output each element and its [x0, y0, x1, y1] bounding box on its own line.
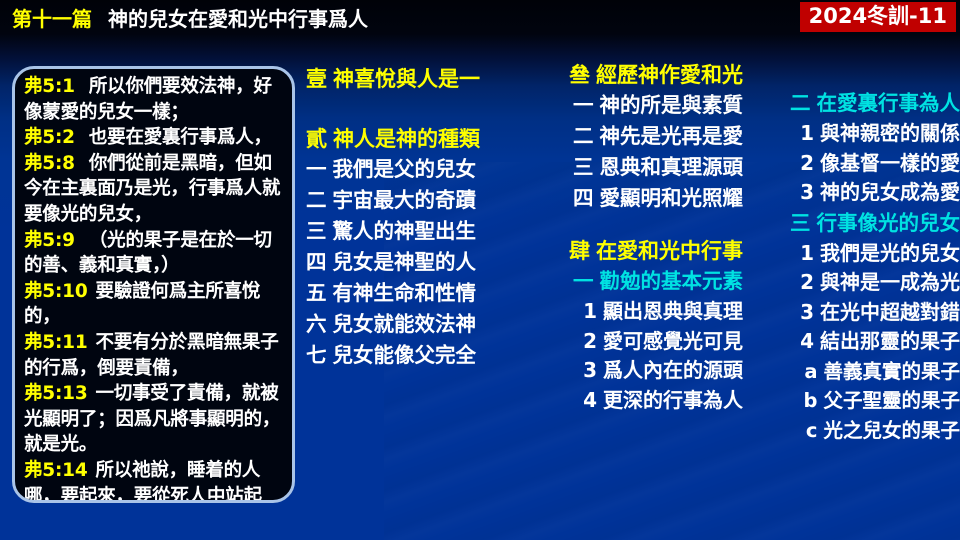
outline-label: 兒女就能效法神 — [333, 312, 477, 336]
outline-marker: 五 — [306, 281, 327, 305]
verse-paragraph: 弗5:11不要有分於黑暗無果子的行爲，倒要責備， — [24, 330, 285, 381]
outline-label: 在愛和光中行事 — [596, 239, 743, 263]
outline-marker: 貳 — [306, 127, 327, 151]
outline-item-l2: 2愛可感覺光可見 — [521, 327, 743, 357]
outline-item-l1: 一勸勉的基本元素 — [521, 266, 743, 297]
outline-label: 神喜悅與人是一 — [333, 67, 480, 91]
outline-label: 經歷神作愛和光 — [596, 63, 743, 87]
verse-paragraph: 弗5:13一切事受了責備，就被光顯明了；因爲凡將事顯明的，就是光。 — [24, 381, 285, 458]
outline-label: 在光中超越對錯 — [820, 300, 960, 324]
outline-column-c: 二在愛裏行事為人1與神親密的關係2像基督一樣的愛3神的兒女成為愛三行事像光的兒女… — [743, 88, 960, 445]
outline-marker: b — [804, 389, 818, 412]
verse-list: 弗5:1所以你們要效法神，好像蒙愛的兒女一樣；弗5:2也要在愛裏行事爲人，弗5:… — [24, 74, 285, 503]
verse-reference: 弗5:1 — [24, 76, 75, 97]
outline-marker: 3 — [800, 300, 814, 324]
verse-reference: 弗5:11 — [24, 332, 88, 353]
outline-spacer — [521, 214, 743, 236]
outline-item-l2: 4結出那靈的果子 — [743, 327, 960, 357]
outline-marker: 2 — [583, 329, 597, 353]
outline-label: 結出那靈的果子 — [820, 329, 960, 353]
verse-paragraph: 弗5:2也要在愛裏行事爲人， — [24, 125, 285, 151]
verse-paragraph: 弗5:14所以祂說，睡着的人哪，要起來，要從死人中站起來，基督就要光照你了。 — [24, 458, 285, 503]
outline-item-l1: 三行事像光的兒女 — [743, 208, 960, 239]
outline-marker: 三 — [790, 211, 811, 235]
outline-marker: 4 — [800, 329, 814, 353]
outline-item-l1: 四兒女是神聖的人 — [306, 247, 521, 278]
outline-marker: 三 — [306, 219, 327, 243]
outline-item-l2: 1顯出恩典與真理 — [521, 297, 743, 327]
scripture-panel: 弗5:1所以你們要效法神，好像蒙愛的兒女一樣；弗5:2也要在愛裏行事爲人，弗5:… — [12, 66, 295, 503]
verse-reference: 弗5:10 — [24, 281, 88, 302]
outline-label: 神人是神的種類 — [333, 127, 480, 151]
outline-label: 與神親密的關係 — [820, 121, 960, 145]
outline-column-a: 壹神喜悅與人是一貳神人是神的種類一我們是父的兒女二宇宙最大的奇蹟三驚人的神聖出生… — [306, 64, 521, 371]
outline-label: 宇宙最大的奇蹟 — [333, 188, 477, 212]
outline-item-l3: a善義真實的果子 — [743, 357, 960, 387]
outline-item-l1: 一神的所是與素質 — [521, 90, 743, 121]
verse-reference: 弗5:2 — [24, 127, 75, 148]
outline-item-l2: 3爲人內在的源頭 — [521, 356, 743, 386]
outline-item-l1: 四愛顯明和光照耀 — [521, 183, 743, 214]
outline-item-l0: 貳神人是神的種類 — [306, 124, 521, 154]
outline-item-l2: 2像基督一樣的愛 — [743, 149, 960, 179]
outline-label: 勸勉的基本元素 — [600, 269, 744, 293]
outline-item-l1: 二在愛裏行事為人 — [743, 88, 960, 119]
verse-paragraph: 弗5:1所以你們要效法神，好像蒙愛的兒女一樣； — [24, 74, 285, 125]
verse-reference: 弗5:14 — [24, 460, 88, 481]
outline-item-l1: 七兒女能像父完全 — [306, 340, 521, 371]
outline-item-l1: 二神先是光再是愛 — [521, 121, 743, 152]
verse-reference: 弗5:9 — [24, 230, 75, 251]
outline-label: 在愛裏行事為人 — [817, 91, 960, 115]
outline-marker: 二 — [790, 91, 811, 115]
outline-marker: 二 — [573, 124, 594, 148]
outline-item-l2: 4更深的行事為人 — [521, 386, 743, 416]
outline-item-l2: 3在光中超越對錯 — [743, 298, 960, 328]
verse-paragraph: 弗5:8你們從前是黑暗，但如今在主裏面乃是光，行事爲人就要像光的兒女， — [24, 151, 285, 228]
outline-label: 父子聖靈的果子 — [823, 389, 960, 412]
outline-item-l2: 2與神是一成為光 — [743, 268, 960, 298]
outline-label: 兒女能像父完全 — [333, 343, 477, 367]
outline-marker: 七 — [306, 343, 327, 367]
outline-marker: c — [806, 419, 818, 442]
outline-marker: 壹 — [306, 67, 327, 91]
outline-item-l0: 叄經歷神作愛和光 — [521, 60, 743, 90]
page-title: 神的兒女在愛和光中行事爲人 — [108, 3, 368, 32]
outline-marker: 4 — [583, 388, 597, 412]
outline-label: 有神生命和性情 — [333, 281, 477, 305]
outline-item-l1: 二宇宙最大的奇蹟 — [306, 185, 521, 216]
outline-label: 神的兒女成為愛 — [820, 180, 960, 204]
outline-marker: 2 — [800, 151, 814, 175]
outline-label: 顯出恩典與真理 — [603, 299, 743, 323]
outline-item-l3: c光之兒女的果子 — [743, 416, 960, 446]
status-badge: 2024冬訓-11 — [800, 2, 956, 32]
verse-paragraph: 弗5:10要驗證何爲主所喜悅的， — [24, 279, 285, 330]
outline-item-l2: 1與神親密的關係 — [743, 119, 960, 149]
outline-marker: 六 — [306, 312, 327, 336]
outline-column-b: 叄經歷神作愛和光一神的所是與素質二神先是光再是愛三恩典和真理源頭四愛顯明和光照耀… — [521, 60, 743, 415]
outline-marker: 1 — [583, 299, 597, 323]
outline-item-l3: b父子聖靈的果子 — [743, 386, 960, 416]
outline-item-l1: 一我們是父的兒女 — [306, 154, 521, 185]
outline-marker: 四 — [573, 186, 594, 210]
outline-marker: 一 — [573, 269, 594, 293]
outline-item-l1: 六兒女就能效法神 — [306, 309, 521, 340]
outline-marker: 三 — [573, 155, 594, 179]
outline-marker: 2 — [800, 270, 814, 294]
outline-label: 愛可感覺光可見 — [603, 329, 743, 353]
outline-label: 像基督一樣的愛 — [820, 151, 960, 175]
outline-label: 爲人內在的源頭 — [603, 358, 743, 382]
outline-item-l1: 三驚人的神聖出生 — [306, 216, 521, 247]
outline-label: 愛顯明和光照耀 — [600, 186, 744, 210]
outline-label: 行事像光的兒女 — [817, 211, 960, 235]
outline-marker: 肆 — [569, 239, 590, 263]
outline-label: 與神是一成為光 — [820, 270, 960, 294]
outline-item-l0: 壹神喜悅與人是一 — [306, 64, 521, 94]
outline-marker: 3 — [583, 358, 597, 382]
outline-item-l1: 三恩典和真理源頭 — [521, 152, 743, 183]
verse-reference: 弗5:13 — [24, 383, 88, 404]
verse-text: 也要在愛裏行事爲人， — [89, 127, 272, 148]
header-bar: 第十一篇 神的兒女在愛和光中行事爲人 2024冬訓-11 — [0, 0, 960, 34]
outline-item-l0: 肆在愛和光中行事 — [521, 236, 743, 266]
chapter-label: 第十一篇 — [12, 3, 92, 32]
outline-label: 驚人的神聖出生 — [333, 219, 477, 243]
verse-reference: 弗5:8 — [24, 153, 75, 174]
outline-marker: 叄 — [569, 63, 590, 87]
outline-marker: 一 — [306, 157, 327, 181]
outline-item-l1: 五有神生命和性情 — [306, 278, 521, 309]
outline-item-l2: 3神的兒女成為愛 — [743, 178, 960, 208]
outline-marker: 二 — [306, 188, 327, 212]
outline-marker: 1 — [800, 121, 814, 145]
outline-item-l2: 1我們是光的兒女 — [743, 239, 960, 269]
outline-marker: a — [804, 360, 817, 383]
outline-spacer — [306, 94, 521, 124]
outline-marker: 四 — [306, 250, 327, 274]
outline-label: 更深的行事為人 — [603, 388, 743, 412]
outline-label: 神先是光再是愛 — [600, 124, 744, 148]
outline-label: 神的所是與素質 — [600, 93, 744, 117]
outline-label: 我們是父的兒女 — [333, 157, 477, 181]
outline-label: 我們是光的兒女 — [820, 241, 960, 265]
outline-label: 兒女是神聖的人 — [333, 250, 477, 274]
outline-marker: 3 — [800, 180, 814, 204]
outline-label: 恩典和真理源頭 — [600, 155, 744, 179]
verse-paragraph: 弗5:9（光的果子是在於一切的善、義和真實，） — [24, 228, 285, 279]
outline-label: 善義真實的果子 — [823, 360, 960, 383]
header-title-group: 第十一篇 神的兒女在愛和光中行事爲人 — [12, 3, 368, 32]
slide-canvas: 第十一篇 神的兒女在愛和光中行事爲人 2024冬訓-11 弗5:1所以你們要效法… — [0, 0, 960, 540]
outline-label: 光之兒女的果子 — [823, 419, 960, 442]
outline-marker: 1 — [800, 241, 814, 265]
outline-marker: 一 — [573, 93, 594, 117]
